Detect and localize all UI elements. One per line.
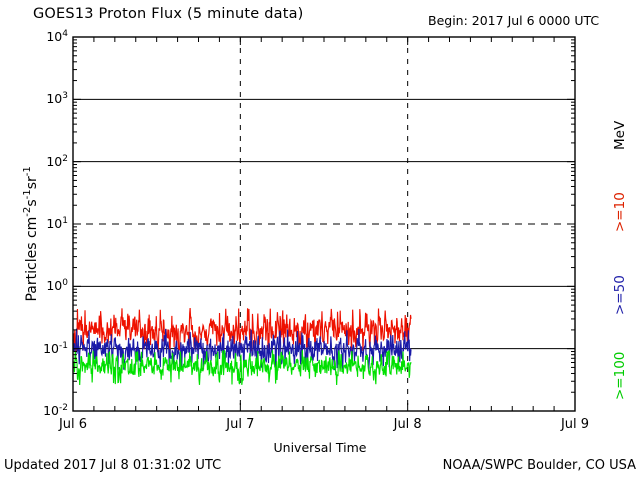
source-credit: NOAA/SWPC Boulder, CO USA	[443, 458, 636, 473]
proton-flux-plot-page: GOES13 Proton Flux (5 minute data) Begin…	[0, 0, 640, 480]
updated-timestamp: Updated 2017 Jul 8 01:31:02 UTC	[4, 458, 221, 473]
flux-plot-canvas	[0, 0, 640, 480]
